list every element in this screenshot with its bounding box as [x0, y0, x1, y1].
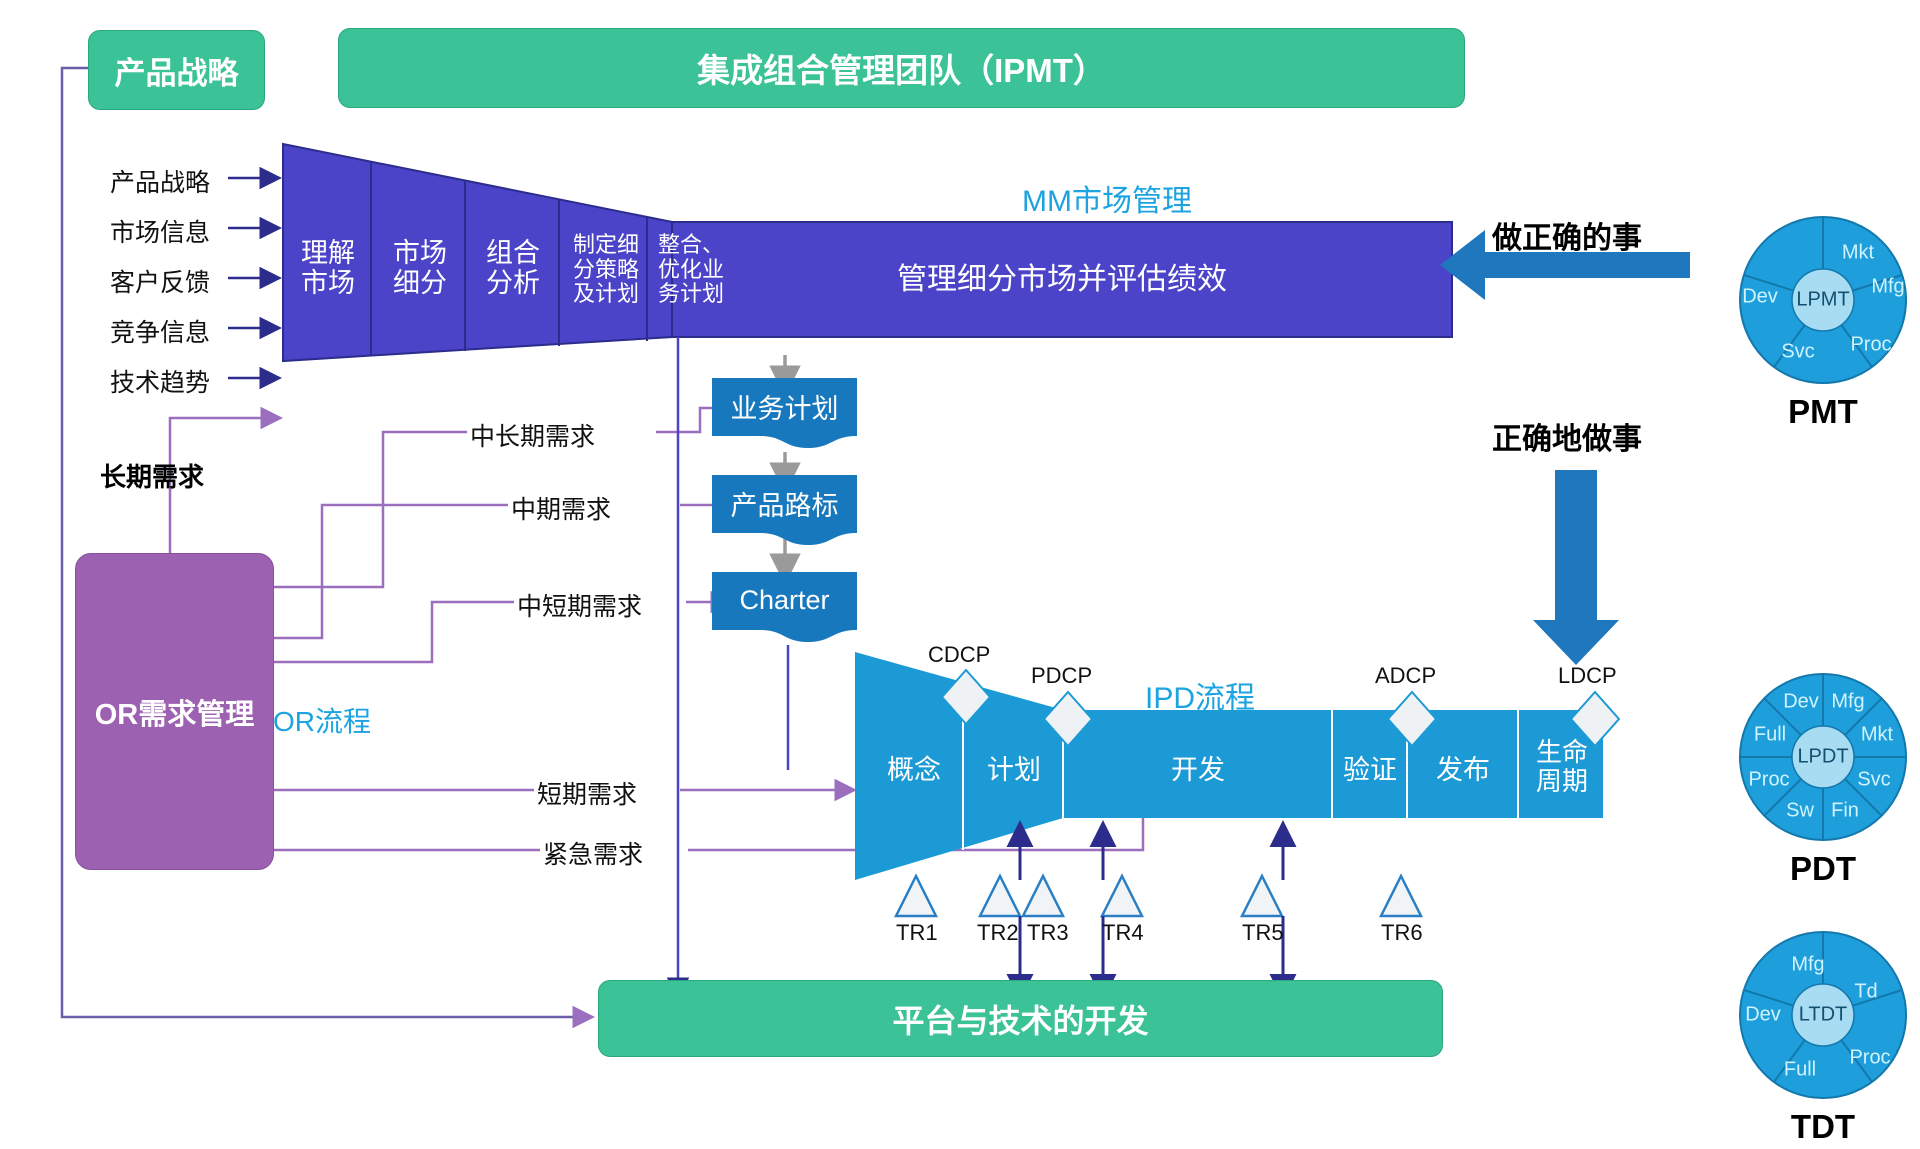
input-label-0: 产品战略: [110, 163, 210, 199]
input-label-2: 客户反馈: [110, 263, 210, 299]
tr-label-1: TR2: [977, 920, 1019, 946]
diagram-vector-layer: [0, 0, 1920, 1149]
demand-label-3: 短期需求: [537, 775, 637, 811]
do-things-right-arrow: [1533, 470, 1619, 665]
motto-things-right: 正确地做事: [1492, 414, 1642, 458]
wheel-tdt-seg-2: Proc: [1849, 1047, 1890, 1070]
mm-stage-0: 理解 市场: [287, 238, 369, 298]
input-label-1: 市场信息: [110, 213, 210, 249]
mm-stage-4: 整合、 优化业 务计划: [652, 233, 730, 307]
wheel-tdt-seg-1: Td: [1854, 981, 1877, 1004]
demand-label-2: 中短期需求: [517, 587, 642, 623]
wheel-tdt-seg-3: Full: [1784, 1059, 1816, 1082]
platform-tech-dev-box[interactable]: 平台与技术的开发: [598, 980, 1443, 1057]
doc-box-1[interactable]: 产品路标: [712, 475, 857, 537]
tr-label-3: TR4: [1102, 920, 1144, 946]
doc-label-1: 产品路标: [731, 484, 839, 523]
ipd-stage-5: 生命 周期: [1524, 738, 1600, 796]
long-term-demand-label: 长期需求: [100, 457, 204, 494]
demand-label-4: 紧急需求: [543, 835, 643, 871]
ipd-title: IPD流程: [1145, 673, 1255, 717]
or-demand-management-box[interactable]: OR需求管理: [75, 553, 274, 870]
checkpoint-label-0: CDCP: [928, 642, 990, 668]
or-process-label: OR流程: [273, 700, 371, 740]
product-strategy-label: 产品战略: [115, 48, 239, 93]
ipd-stage-4: 发布: [1412, 755, 1514, 785]
wheel-pdt-seg-3: Svc: [1857, 769, 1890, 792]
wheel-pdt-caption: PDT: [1738, 850, 1908, 888]
mm-tail-label: 管理细分市场并评估绩效: [740, 263, 1384, 297]
doc-label-0: 业务计划: [731, 387, 839, 426]
doc-box-0[interactable]: 业务计划: [712, 378, 857, 440]
wheel-pdt: Dev Mfg Mkt Svc Fin Sw Proc Full LPDT PD…: [1738, 672, 1908, 887]
wheel-tdt-hub: LTDT: [1799, 1004, 1848, 1027]
wheel-pmt-seg-1: Mfg: [1871, 276, 1904, 299]
checkpoint-label-2: ADCP: [1375, 663, 1436, 689]
motto-right-things: 做正确的事: [1492, 213, 1642, 257]
ipd-tr-triangles: [896, 876, 1421, 916]
tr-label-4: TR5: [1242, 920, 1284, 946]
ipmt-box[interactable]: 集成组合管理团队（IPMT）: [338, 28, 1465, 108]
wheel-tdt-seg-0: Mfg: [1791, 954, 1824, 977]
ipd-stage-2: 开发: [1152, 755, 1244, 785]
wheel-tdt-caption: TDT: [1738, 1108, 1908, 1146]
wheel-pmt-caption: PMT: [1738, 393, 1908, 431]
wheel-pdt-seg-2: Mkt: [1861, 724, 1893, 747]
wheel-tdt-seg-4: Dev: [1745, 1004, 1781, 1027]
wheel-pdt-seg-5: Sw: [1786, 800, 1814, 823]
mm-stage-3: 制定细 分策略 及计划: [566, 233, 646, 307]
demand-label-1: 中期需求: [511, 490, 611, 526]
mm-title: MM市场管理: [1022, 176, 1192, 220]
ipd-stage-1: 计划: [968, 755, 1060, 785]
wheel-pdt-seg-1: Mfg: [1831, 691, 1864, 714]
checkpoint-label-1: PDCP: [1031, 663, 1092, 689]
or-demand-management-label: OR需求管理: [95, 691, 255, 733]
wheel-pdt-seg-7: Full: [1754, 724, 1786, 747]
product-strategy-box[interactable]: 产品战略: [88, 30, 265, 110]
checkpoint-label-3: LDCP: [1558, 663, 1617, 689]
tr-label-5: TR6: [1381, 920, 1423, 946]
diagram-canvas: 产品战略 集成组合管理团队（IPMT） 平台与技术的开发 OR需求管理 产品战略…: [0, 0, 1920, 1149]
wheel-pmt: Mkt Mfg Proc Svc Dev LPMT PMT: [1738, 215, 1908, 430]
wheel-pmt-seg-4: Dev: [1742, 286, 1778, 309]
wheel-pdt-hub: LPDT: [1797, 746, 1848, 769]
platform-tech-dev-label: 平台与技术的开发: [892, 996, 1148, 1042]
wheel-pdt-seg-4: Fin: [1831, 800, 1859, 823]
tr-label-0: TR1: [896, 920, 938, 946]
wheel-pmt-seg-0: Mkt: [1842, 242, 1874, 265]
tr-label-2: TR3: [1027, 920, 1069, 946]
input-label-3: 竞争信息: [110, 313, 210, 349]
wheel-pmt-hub: LPMT: [1796, 289, 1849, 312]
doc-box-2[interactable]: Charter: [712, 572, 857, 634]
input-arrows: [228, 178, 277, 378]
wheel-pmt-seg-2: Proc: [1850, 334, 1891, 357]
doc-label-2: Charter: [739, 585, 829, 616]
ipd-stage-3: 验证: [1336, 755, 1404, 785]
ipd-stage-0: 概念: [868, 755, 960, 785]
ipmt-label: 集成组合管理团队（IPMT）: [697, 44, 1106, 92]
mm-stage-1: 市场 细分: [379, 238, 461, 298]
wheel-pmt-seg-3: Svc: [1781, 341, 1814, 364]
input-label-4: 技术趋势: [110, 363, 210, 399]
wheel-pdt-seg-0: Dev: [1783, 691, 1819, 714]
wheel-pdt-seg-6: Proc: [1748, 769, 1789, 792]
demand-label-0: 中长期需求: [470, 417, 595, 453]
wheel-tdt: Mfg Td Proc Full Dev LTDT TDT: [1738, 930, 1908, 1145]
mm-stage-2: 组合 分析: [472, 238, 554, 298]
